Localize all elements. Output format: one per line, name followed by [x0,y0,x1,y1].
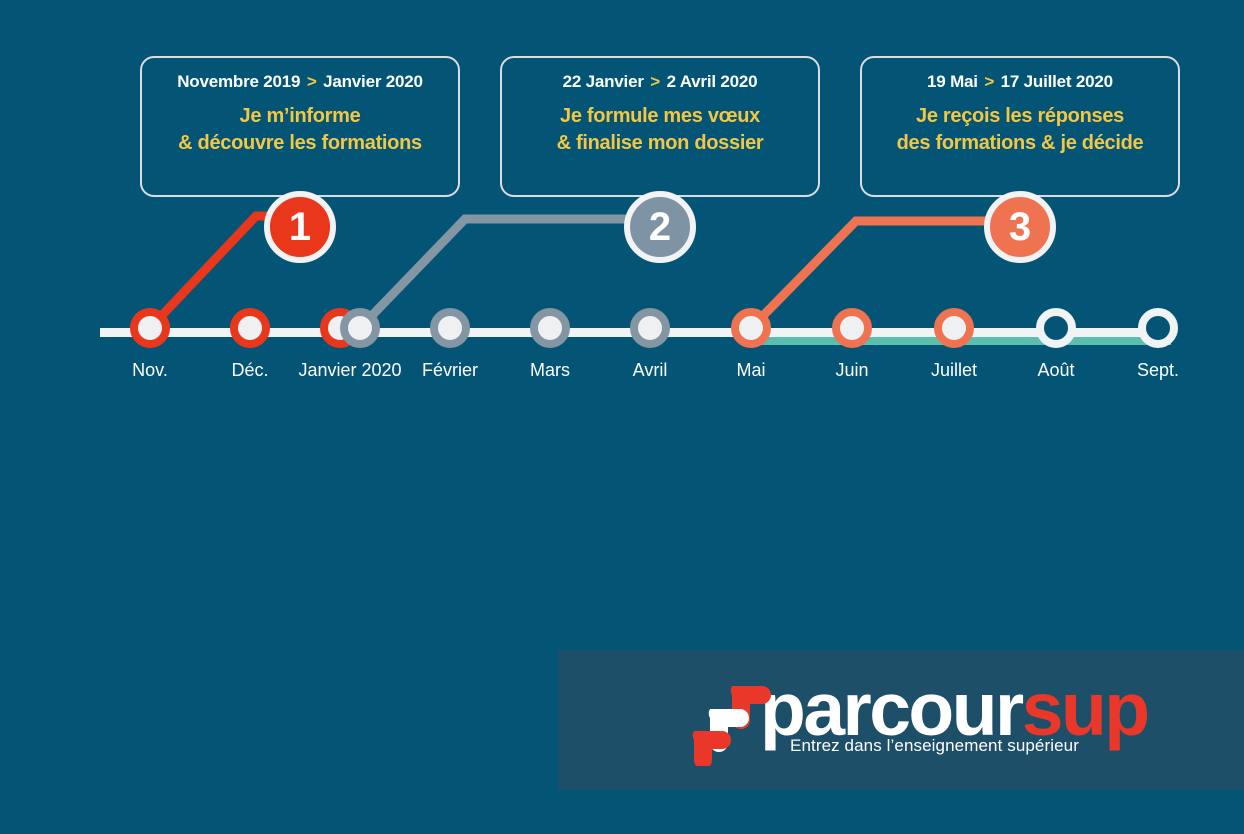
timeline-dot-juillet[interactable] [934,308,974,348]
logo-word-parcour: parcour [760,674,1022,745]
logo-word-sup: sup [1022,674,1148,745]
timeline-label-janvier: Janvier 2020 [298,360,401,381]
timeline-label-nov: Nov. [132,360,168,381]
timeline-dot-avril[interactable] [630,308,670,348]
step-badge-2[interactable]: 2 [624,191,696,263]
step-3-title-line-1: Je reçois les réponses [872,103,1168,130]
timeline-label-mai: Mai [736,360,765,381]
step-3-date-separator: > [982,72,996,91]
step-2-title-line-1: Je formule mes vœux [512,103,808,130]
timeline-dot-nov[interactable] [130,308,170,348]
step-card-1[interactable]: Novembre 2019 > Janvier 2020 Je m’inform… [140,56,460,197]
timeline-dot-mars[interactable] [530,308,570,348]
step-2-date-separator: > [648,72,662,91]
timeline-dot-sept[interactable] [1138,308,1178,348]
step-3-title: Je reçois les réponses des formations & … [872,103,1168,156]
step-1-title-line-1: Je m’informe [152,103,448,130]
step-1-date-from: Novembre 2019 [177,72,300,91]
timeline-dot-mai[interactable] [731,308,771,348]
step-badge-3[interactable]: 3 [984,191,1056,263]
step-3-title-line-2: des formations & je décide [872,130,1168,157]
timeline-dot-dec[interactable] [230,308,270,348]
step-1-title: Je m’informe & découvre les formations [152,103,448,156]
connector-step-2 [360,219,660,328]
timeline-label-sept: Sept. [1137,360,1179,381]
timeline-label-mars: Mars [530,360,570,381]
step-2-dates: 22 Janvier > 2 Avril 2020 [512,72,808,92]
parcoursup-timeline-infographic: Novembre 2019 > Janvier 2020 Je m’inform… [0,0,1244,834]
timeline-label-dec: Déc. [231,360,268,381]
timeline-dot-janvier-gray[interactable] [340,308,380,348]
step-3-date-to: 17 Juillet 2020 [1001,72,1113,91]
step-1-title-line-2: & découvre les formations [152,130,448,157]
parcoursup-logo-mark [692,676,796,766]
step-1-date-separator: > [305,72,319,91]
step-3-date-from: 19 Mai [927,72,978,91]
timeline-label-aout: Août [1037,360,1074,381]
step-2-title: Je formule mes vœux & finalise mon dossi… [512,103,808,156]
timeline-label-fevrier: Février [422,360,478,381]
parcoursup-wordmark: parcour sup [760,674,1148,745]
step-2-title-line-2: & finalise mon dossier [512,130,808,157]
step-2-date-to: 2 Avril 2020 [667,72,758,91]
step-badge-1[interactable]: 1 [264,191,336,263]
timeline-dot-aout[interactable] [1036,308,1076,348]
timeline-dot-fevrier[interactable] [430,308,470,348]
step-card-3[interactable]: 19 Mai > 17 Juillet 2020 Je reçois les r… [860,56,1180,197]
logo-tagline: Entrez dans l’enseignement supérieur [790,736,1079,756]
step-1-dates: Novembre 2019 > Janvier 2020 [152,72,448,92]
timeline-label-avril: Avril [633,360,668,381]
step-3-dates: 19 Mai > 17 Juillet 2020 [872,72,1168,92]
step-card-2[interactable]: 22 Janvier > 2 Avril 2020 Je formule mes… [500,56,820,197]
timeline-label-juillet: Juillet [931,360,977,381]
timeline-dot-juin[interactable] [832,308,872,348]
step-1-date-to: Janvier 2020 [323,72,423,91]
connector-step-3 [751,221,1020,328]
timeline-label-juin: Juin [835,360,868,381]
step-2-date-from: 22 Janvier [563,72,644,91]
